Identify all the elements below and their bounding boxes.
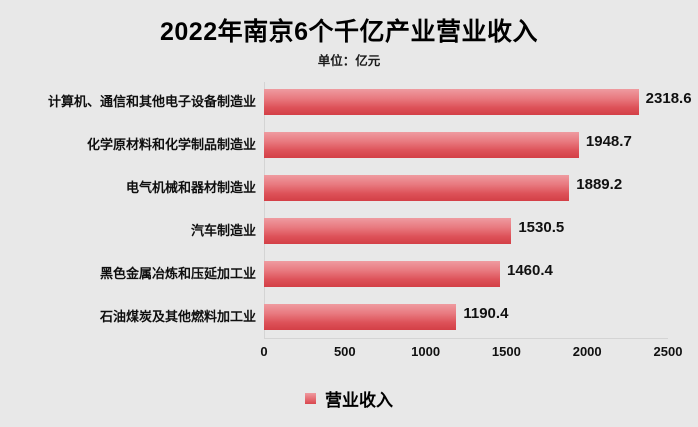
bar-value-label: 1948.7 <box>586 133 632 151</box>
category-label: 汽车制造业 <box>191 223 256 239</box>
x-tick-label: 500 <box>315 344 375 359</box>
bar[interactable] <box>264 89 639 115</box>
bar[interactable] <box>264 132 579 158</box>
bar-value-label: 1889.2 <box>576 176 622 194</box>
bar-value-label: 2318.6 <box>646 90 692 108</box>
bar-row[interactable]: 1190.4 <box>264 297 668 340</box>
x-tick-label: 0 <box>234 344 294 359</box>
bar-value-label: 1190.4 <box>463 305 508 323</box>
category-label: 计算机、通信和其他电子设备制造业 <box>48 94 256 110</box>
chart-legend: 营业收入 <box>0 386 698 411</box>
bar-row[interactable]: 1530.5 <box>264 211 668 254</box>
bar-chart: 2022年南京6个千亿产业营业收入 单位：亿元 计算机、通信和其他电子设备制造业… <box>0 0 698 427</box>
category-label: 黑色金属冶炼和压延加工业 <box>100 266 256 282</box>
chart-title: 2022年南京6个千亿产业营业收入 <box>0 12 698 48</box>
bar-value-label: 1530.5 <box>518 219 564 237</box>
bar[interactable] <box>264 304 456 330</box>
category-label: 石油煤炭及其他燃料加工业 <box>100 309 256 325</box>
bar[interactable] <box>264 218 511 244</box>
x-tick-label: 2000 <box>557 344 617 359</box>
x-tick-label: 2500 <box>638 344 698 359</box>
bar-value-label: 1460.4 <box>507 262 553 280</box>
bar-row[interactable]: 2318.6 <box>264 82 668 125</box>
legend-swatch-icon <box>305 393 316 404</box>
x-tick-label: 1500 <box>476 344 536 359</box>
bar-row[interactable]: 1460.4 <box>264 254 668 297</box>
legend-label: 营业收入 <box>325 386 393 411</box>
bar-row[interactable]: 1889.2 <box>264 168 668 211</box>
plot-area: 2318.61948.71889.21530.51460.41190.4 <box>264 82 668 338</box>
bar[interactable] <box>264 175 569 201</box>
category-label: 电气机械和器材制造业 <box>126 180 256 196</box>
bar-row[interactable]: 1948.7 <box>264 125 668 168</box>
chart-subtitle-unit: 单位：亿元 <box>0 50 698 69</box>
category-label: 化学原材料和化学制品制造业 <box>87 137 256 153</box>
bar[interactable] <box>264 261 500 287</box>
x-tick-label: 1000 <box>396 344 456 359</box>
